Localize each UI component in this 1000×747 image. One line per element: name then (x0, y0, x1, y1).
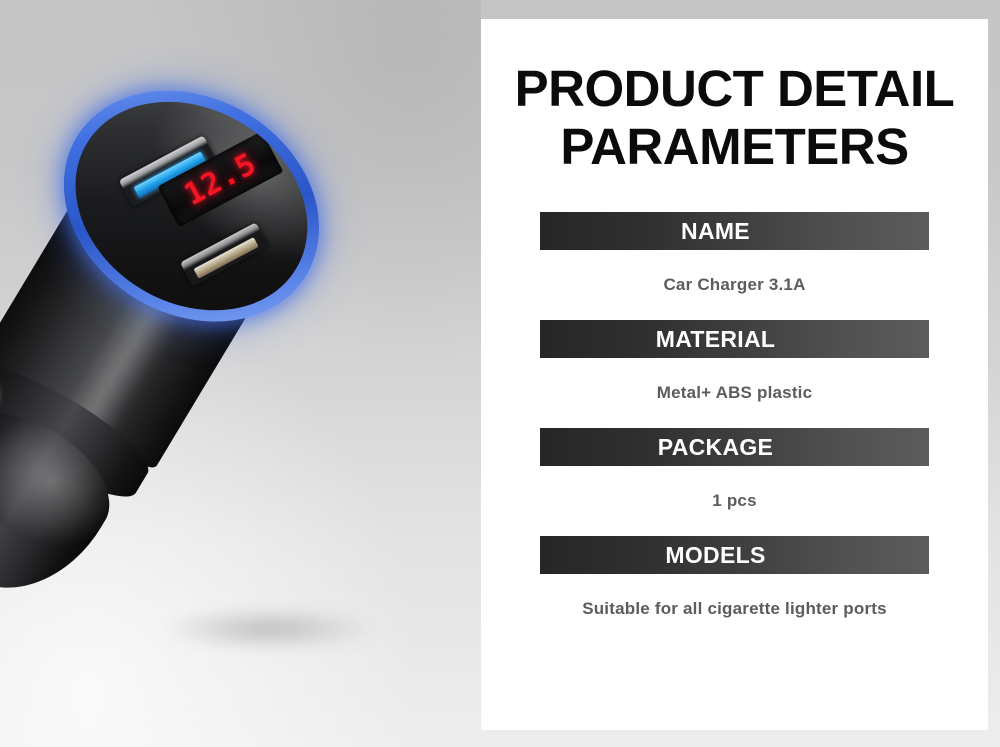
voltmeter-reading: 12.5 (158, 131, 284, 227)
voltmeter-display: 12.5 (158, 131, 284, 227)
spec-row-material: MATERIAL Metal+ ABS plastic (481, 320, 988, 428)
spec-header-label: NAME (681, 218, 750, 245)
spec-value: Suitable for all cigarette lighter ports (481, 574, 988, 644)
spec-row-models: MODELS Suitable for all cigarette lighte… (481, 536, 988, 644)
spec-header-label: PACKAGE (658, 434, 773, 461)
usb-port-2 (180, 222, 269, 286)
product-detail-image: 12.5 PRODUCT DETAIL PARAMETERS NAME Car … (0, 0, 1000, 747)
product-photo-area: 12.5 (0, 0, 481, 747)
spec-header-bar: MATERIAL (540, 320, 929, 358)
car-charger-product: 12.5 (0, 41, 384, 641)
product-contact-shadow (118, 600, 418, 658)
spec-row-name: NAME Car Charger 3.1A (481, 212, 988, 320)
usb-port-2-insert (193, 237, 259, 279)
spec-header-bar: NAME (540, 212, 929, 250)
spec-row-package: PACKAGE 1 pcs (481, 428, 988, 536)
page-title-line-2: PARAMETERS (495, 118, 974, 176)
spec-value: Car Charger 3.1A (481, 250, 988, 320)
spec-value: 1 pcs (481, 466, 988, 536)
spec-header-bar: MODELS (540, 536, 929, 574)
spec-value: Metal+ ABS plastic (481, 358, 988, 428)
spec-header-label: MATERIAL (656, 326, 776, 353)
spec-panel: PRODUCT DETAIL PARAMETERS NAME Car Charg… (481, 19, 988, 730)
spec-header-label: MODELS (665, 542, 765, 569)
spec-table: NAME Car Charger 3.1A MATERIAL Metal+ AB… (481, 212, 988, 644)
page-title-line-1: PRODUCT DETAIL (495, 60, 974, 118)
spec-header-bar: PACKAGE (540, 428, 929, 466)
page-title: PRODUCT DETAIL PARAMETERS (481, 19, 988, 175)
